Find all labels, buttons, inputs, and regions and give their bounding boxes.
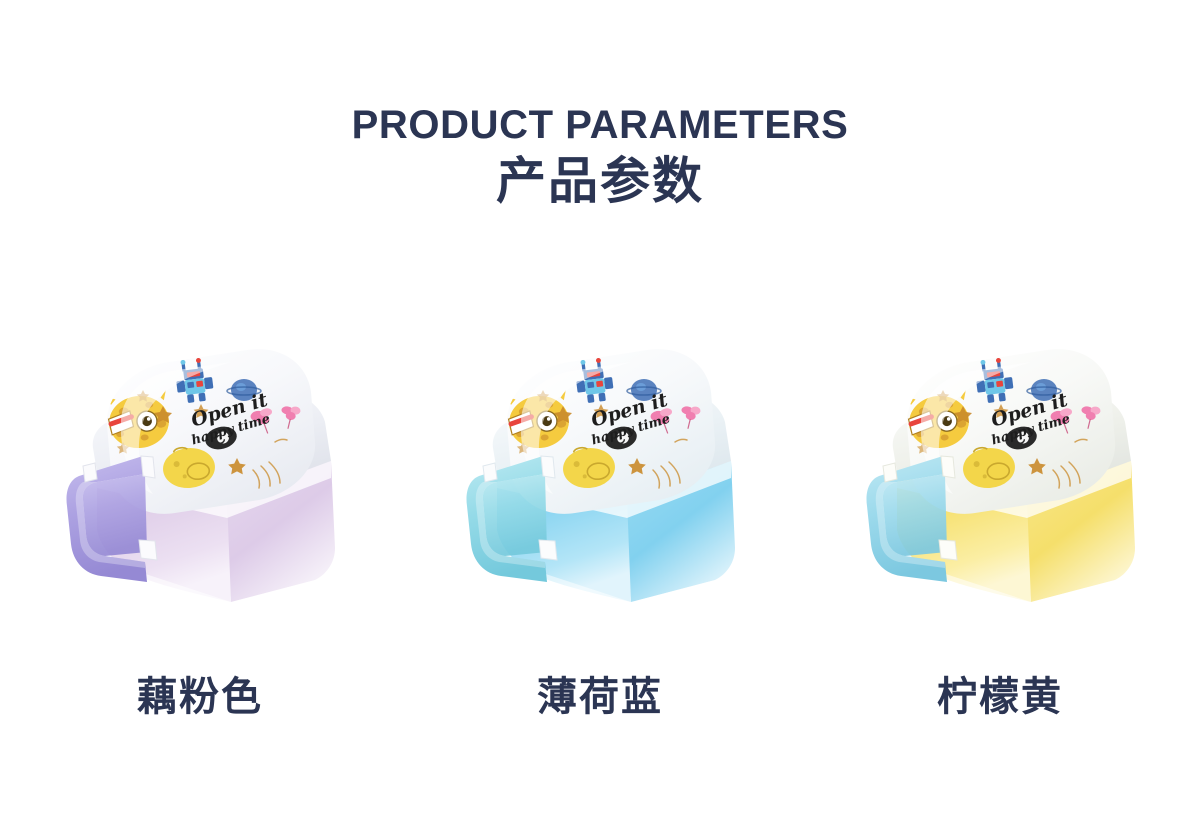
latch-hook-lower: [539, 540, 557, 560]
page-title-english: PRODUCT PARAMETERS: [0, 104, 1200, 147]
box-clasp-pad: [83, 474, 147, 556]
box-clasp-pad: [483, 474, 547, 556]
product-caption-cell-1: 薄荷蓝: [400, 677, 800, 717]
latch-hook-lower: [139, 540, 157, 560]
latch-hook-upper: [483, 463, 497, 482]
page-title-block: PRODUCT PARAMETERS 产品参数: [0, 104, 1200, 209]
latch-hook-right: [141, 456, 155, 478]
latch-hook-right: [941, 456, 955, 478]
product-card-2[interactable]: Open it happy time: [800, 330, 1200, 630]
product-color-label-1: 薄荷蓝: [537, 674, 663, 720]
product-caption-cell-2: 柠檬黄: [800, 677, 1200, 717]
product-image-row: Open it happy time: [0, 330, 1200, 630]
product-caption-row: 藕粉色 薄荷蓝 柠檬黄: [0, 662, 1200, 732]
latch-hook-lower: [939, 540, 957, 560]
product-card-1[interactable]: Open it happy time: [400, 330, 800, 630]
lunch-box-image-0: Open it happy time: [35, 330, 365, 615]
latch-hook-upper: [883, 463, 897, 482]
latch-hook-right: [541, 456, 555, 478]
box-clasp-pad: [883, 474, 947, 556]
page-title-chinese: 产品参数: [0, 153, 1200, 209]
product-color-label-2: 柠檬黄: [937, 674, 1063, 720]
lunch-box-image-2: Open it happy time: [835, 330, 1165, 615]
product-color-label-0: 藕粉色: [137, 674, 263, 720]
product-caption-cell-0: 藕粉色: [0, 677, 400, 717]
latch-hook-upper: [83, 463, 97, 482]
product-card-0[interactable]: Open it happy time: [0, 330, 400, 630]
lunch-box-image-1: Open it happy time: [435, 330, 765, 615]
